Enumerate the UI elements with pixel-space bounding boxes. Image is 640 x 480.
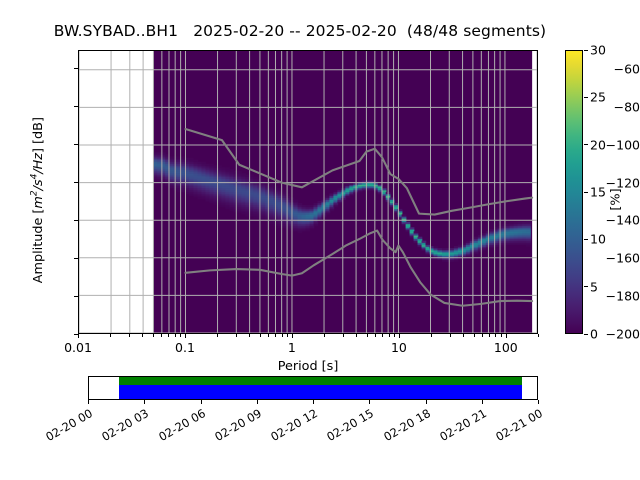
colorbar-tick-mark <box>584 192 588 193</box>
x-tick-minor <box>382 334 383 337</box>
x-tick-minor <box>236 334 237 337</box>
colorbar-tick-mark <box>584 97 588 98</box>
figure-title: BW.SYBAD..BH1 2025-02-20 -- 2025-02-20 (… <box>0 22 600 40</box>
x-tick-minor <box>538 334 539 337</box>
x-tick-minor <box>389 334 390 337</box>
x-tick-label: 100 <box>494 340 518 355</box>
colorbar-tick-label: 20 <box>590 137 606 152</box>
coverage-band-times-band <box>119 385 522 400</box>
colorbar-gradient <box>566 51 582 333</box>
x-tick-minor <box>450 334 451 337</box>
y-tick-mark <box>74 258 78 259</box>
colorbar-tick-label: 25 <box>590 90 606 105</box>
x-tick-minor <box>260 334 261 337</box>
time-tick-mark <box>257 400 258 404</box>
time-tick-mark <box>144 400 145 404</box>
figure-canvas: BW.SYBAD..BH1 2025-02-20 -- 2025-02-20 (… <box>0 0 640 480</box>
x-tick-minor <box>161 334 162 337</box>
x-tick-minor <box>175 334 176 337</box>
x-tick-minor <box>110 334 111 337</box>
x-tick-label: 10 <box>391 340 407 355</box>
x-tick-minor <box>482 334 483 337</box>
y-tick-mark <box>74 182 78 183</box>
y-axis-label: Amplitude [m2/s4/Hz] [dB] <box>30 70 46 330</box>
x-tick-minor <box>489 334 490 337</box>
colorbar-label: [%] <box>609 150 624 250</box>
x-tick-minor <box>217 334 218 337</box>
x-tick-minor <box>367 334 368 337</box>
colorbar-tick-mark <box>584 334 588 335</box>
y-tick-mark <box>74 106 78 107</box>
x-tick-minor <box>324 334 325 337</box>
x-tick-minor <box>495 334 496 337</box>
time-tick-mark <box>369 400 370 404</box>
coverage-band-segments-band <box>119 377 522 385</box>
x-tick-label: 1 <box>288 340 296 355</box>
colorbar-tick-label: 10 <box>590 232 606 247</box>
coverage-timeline[interactable] <box>88 376 538 400</box>
colorbar[interactable] <box>565 50 583 334</box>
x-tick-minor <box>287 334 288 337</box>
x-tick-minor <box>129 334 130 337</box>
x-tick-minor <box>356 334 357 337</box>
colorbar-tick-mark <box>584 50 588 51</box>
y-tick-mark <box>74 144 78 145</box>
x-tick-minor <box>275 334 276 337</box>
y-tick-mark <box>74 68 78 69</box>
y-tick-mark <box>74 296 78 297</box>
time-tick-mark <box>201 400 202 404</box>
x-tick-minor <box>474 334 475 337</box>
x-tick-minor <box>501 334 502 337</box>
x-tick-minor <box>394 334 395 337</box>
x-tick-mark <box>78 334 79 338</box>
x-axis-label: Period [s] <box>78 359 538 374</box>
x-tick-minor <box>268 334 269 337</box>
time-tick-mark <box>88 400 89 404</box>
y-tick-mark <box>74 220 78 221</box>
noise-model-curves <box>79 51 537 333</box>
x-tick-label: 0.01 <box>64 340 92 355</box>
x-tick-minor <box>180 334 181 337</box>
x-tick-minor <box>168 334 169 337</box>
ppsd-plot-area[interactable] <box>78 50 538 334</box>
x-tick-minor <box>153 334 154 337</box>
x-tick-mark <box>506 334 507 338</box>
time-tick-mark <box>426 400 427 404</box>
time-tick-mark <box>482 400 483 404</box>
colorbar-tick-mark <box>584 239 588 240</box>
time-tick-mark <box>313 400 314 404</box>
colorbar-tick-mark <box>584 144 588 145</box>
colorbar-tick-label: 30 <box>590 43 606 58</box>
colorbar-tick-label: 5 <box>590 279 598 294</box>
x-tick-minor <box>343 334 344 337</box>
x-tick-minor <box>282 334 283 337</box>
x-tick-label: 0.1 <box>175 340 195 355</box>
x-tick-minor <box>431 334 432 337</box>
x-tick-mark <box>185 334 186 338</box>
x-tick-mark <box>399 334 400 338</box>
colorbar-tick-label: 15 <box>590 185 606 200</box>
colorbar-tick-mark <box>584 286 588 287</box>
colorbar-tick-label: 0 <box>590 327 598 342</box>
x-tick-minor <box>375 334 376 337</box>
time-tick-mark <box>538 400 539 404</box>
x-tick-minor <box>249 334 250 337</box>
x-tick-minor <box>142 334 143 337</box>
x-tick-minor <box>463 334 464 337</box>
x-tick-mark <box>292 334 293 338</box>
